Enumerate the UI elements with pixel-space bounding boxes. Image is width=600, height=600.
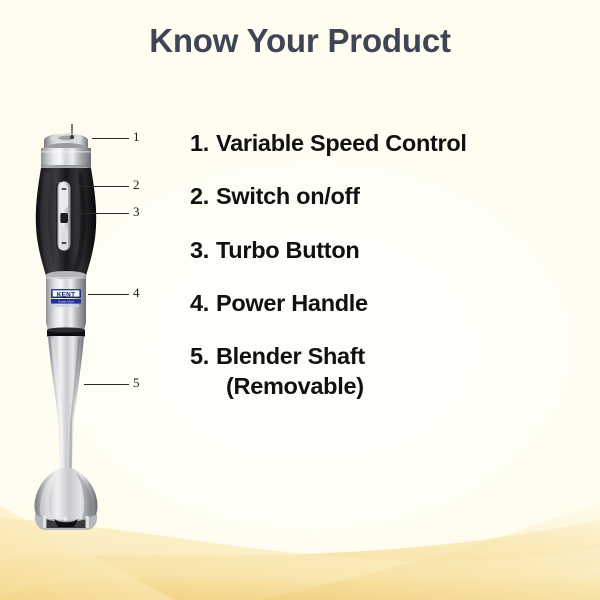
feature-item-5: 5. Blender Shaft (Removable) xyxy=(190,343,590,399)
callout-1-number: 1 xyxy=(133,129,140,145)
callout-3-leader xyxy=(78,213,129,214)
feature-item-4-label: Power Handle xyxy=(216,290,590,316)
callout-4: 4 xyxy=(88,287,144,303)
feature-item-1-index: 1. xyxy=(190,130,216,156)
svg-text:KENT: KENT xyxy=(57,291,76,298)
callout-4-number: 4 xyxy=(133,285,140,301)
blade-guard-graphic xyxy=(34,468,97,530)
feature-item-2: 2. Switch on/off xyxy=(190,183,590,209)
feature-item-1-label: Variable Speed Control xyxy=(216,130,590,156)
callout-4-leader xyxy=(88,294,129,295)
page-title: Know Your Product xyxy=(0,22,600,60)
feature-item-4: 4. Power Handle xyxy=(190,290,590,316)
callout-3-number: 3 xyxy=(133,204,140,220)
callout-5-leader xyxy=(84,384,129,385)
control-button-strip-graphic xyxy=(56,180,72,252)
speed-dial-graphic xyxy=(41,124,91,175)
callout-5-number: 5 xyxy=(133,375,140,391)
callout-2-number: 2 xyxy=(133,177,140,193)
power-handle-graphic: KENT Smart Chef xyxy=(46,271,86,339)
feature-item-1: 1. Variable Speed Control xyxy=(190,130,590,156)
feature-item-3-label: Turbo Button xyxy=(216,237,590,263)
feature-item-2-label: Switch on/off xyxy=(216,183,590,209)
callout-2: 2 xyxy=(78,179,144,195)
callout-5: 5 xyxy=(84,377,144,393)
feature-item-5-index: 5. xyxy=(190,343,216,399)
callout-1-leader xyxy=(92,138,129,139)
feature-item-4-index: 4. xyxy=(190,290,216,316)
callout-3: 3 xyxy=(78,206,144,222)
blender-shaft-graphic xyxy=(48,336,84,470)
feature-item-5-label: Blender Shaft xyxy=(216,343,365,369)
svg-text:Smart Chef: Smart Chef xyxy=(58,299,74,303)
feature-item-5-sublabel: (Removable) xyxy=(216,373,590,399)
feature-list: 1. Variable Speed Control 2. Switch on/o… xyxy=(190,130,590,426)
feature-item-3: 3. Turbo Button xyxy=(190,237,590,263)
feature-item-2-index: 2. xyxy=(190,183,216,209)
feature-item-3-index: 3. xyxy=(190,237,216,263)
callout-2-leader xyxy=(78,186,129,187)
callout-1: 1 xyxy=(92,131,144,147)
